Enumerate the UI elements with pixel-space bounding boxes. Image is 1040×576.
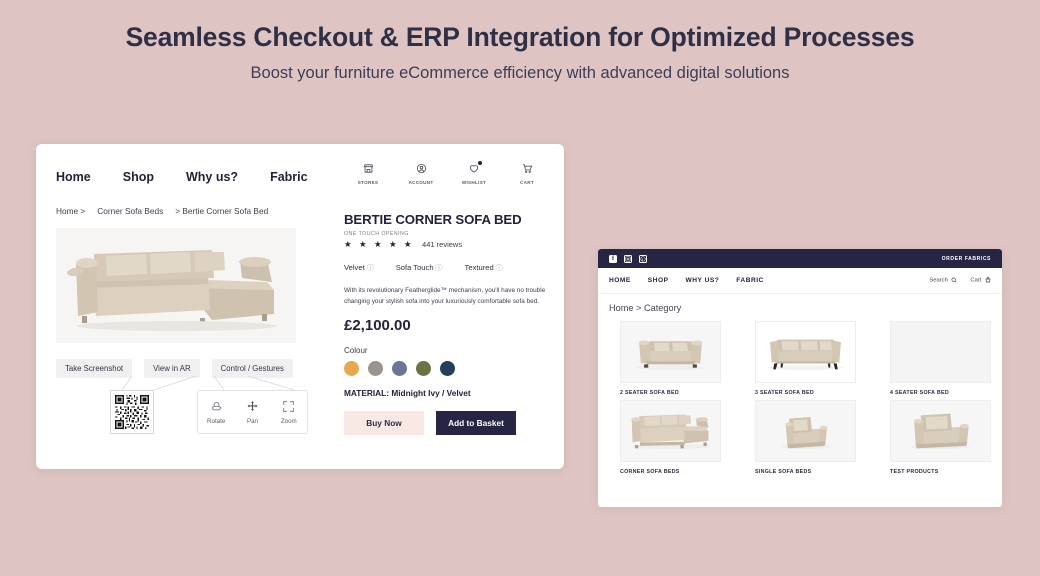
product-info-panel: BERTIE CORNER SOFA BED ONE TOUCH OPENING… xyxy=(344,212,549,435)
ar-qr-code[interactable] xyxy=(110,390,154,434)
three-seater-illustration xyxy=(756,322,855,382)
tag-sofa-touch[interactable]: Sofa Touchⓘ xyxy=(396,263,443,273)
tile-caption: 3 SEATER SOFA BED xyxy=(755,390,856,396)
product-subtitle: ONE TOUCH OPENING xyxy=(344,231,549,237)
gesture-rotate[interactable]: Rotate xyxy=(200,400,233,425)
tile-image xyxy=(890,400,991,462)
social-links: f xyxy=(609,255,647,263)
tile-caption: CORNER SOFA BEDS xyxy=(620,469,721,475)
category-breadcrumb: Home > Category xyxy=(598,294,1002,313)
pdp-main-nav: Home Shop Why us? Fabric xyxy=(56,170,308,184)
facebook-icon[interactable]: f xyxy=(609,255,617,263)
control-gestures-button[interactable]: Control / Gestures xyxy=(212,359,293,378)
zoom-icon xyxy=(272,400,305,416)
tile-corner-sofa-beds[interactable]: CORNER SOFA BEDS xyxy=(620,400,721,475)
pdp-nav-why-us[interactable]: Why us? xyxy=(186,170,238,184)
rotate-icon xyxy=(200,400,233,416)
product-description: With its revolutionary Featherglide™ mec… xyxy=(344,285,549,307)
cart-label: Cart xyxy=(970,278,981,284)
category-page-card: f ORDER FABRICS HOME SHOP WHY US? FABRIC xyxy=(598,249,1002,507)
armchair-illustration xyxy=(891,401,990,461)
account-label: ACCOUNT xyxy=(403,180,439,185)
material-label: MATERIAL: Midnight Ivy / Velvet xyxy=(344,388,549,398)
wishlist-button[interactable]: WISHLIST xyxy=(456,162,492,185)
wishlist-badge xyxy=(478,161,482,165)
product-hero-image[interactable] xyxy=(56,228,296,343)
tag-velvet-label: Velvet xyxy=(344,263,365,272)
pdp-utility-icons: STORES ACCOUNT WISHLIST xyxy=(350,162,545,185)
tile-image xyxy=(620,321,721,383)
buy-now-button[interactable]: Buy Now xyxy=(344,411,424,435)
tag-sofa-touch-label: Sofa Touch xyxy=(396,263,434,272)
corner-sofa-illustration xyxy=(62,232,292,340)
qr-code-icon xyxy=(114,394,150,430)
pdp-nav-fabric[interactable]: Fabric xyxy=(270,170,308,184)
account-icon xyxy=(403,162,439,177)
colour-swatch-group xyxy=(344,361,549,376)
page-headline: Seamless Checkout & ERP Integration for … xyxy=(0,22,1040,53)
order-fabrics-link[interactable]: ORDER FABRICS xyxy=(942,256,991,262)
info-icon[interactable]: ⓘ xyxy=(496,265,503,272)
cat-nav-why-us[interactable]: WHY US? xyxy=(685,277,719,284)
pan-icon xyxy=(236,400,269,416)
wishlist-icon xyxy=(456,162,492,177)
cat-nav-home[interactable]: HOME xyxy=(609,277,631,284)
swatch-amber[interactable] xyxy=(344,361,359,376)
cart-button[interactable]: Cart xyxy=(970,277,991,284)
product-attribute-tags: Velvetⓘ Sofa Touchⓘ Texturedⓘ xyxy=(344,263,549,273)
breadcrumb: Home > Corner Sofa Beds > Bertie Corner … xyxy=(56,206,268,216)
category-nav: HOME SHOP WHY US? FABRIC Search Cart xyxy=(598,268,1002,294)
colour-label: Colour xyxy=(344,346,549,355)
tile-2-seater-sofa-bed[interactable]: 2 SEATER SOFA BED xyxy=(620,321,721,396)
tag-velvet[interactable]: Velvetⓘ xyxy=(344,263,374,273)
cart-icon xyxy=(985,277,991,283)
stores-icon xyxy=(350,162,386,177)
cat-nav-fabric[interactable]: FABRIC xyxy=(736,277,764,284)
stores-button[interactable]: STORES xyxy=(350,162,386,185)
cart-icon xyxy=(509,162,545,177)
cta-row: Buy Now Add to Basket xyxy=(344,411,549,435)
search-button[interactable]: Search xyxy=(929,277,957,284)
tag-textured-label: Textured xyxy=(465,263,494,272)
tile-4-seater-sofa-bed[interactable]: 4 SEATER SOFA BED xyxy=(890,321,991,396)
take-screenshot-button[interactable]: Take Screenshot xyxy=(56,359,132,378)
instagram-icon[interactable] xyxy=(624,255,632,263)
loveseat-illustration xyxy=(621,322,720,382)
pdp-nav-shop[interactable]: Shop xyxy=(123,170,154,184)
corner-sofa-illustration xyxy=(621,401,720,461)
swatch-blue-grey[interactable] xyxy=(392,361,407,376)
tile-test-products[interactable]: TEST PRODUCTS xyxy=(890,400,991,475)
single-chair-illustration xyxy=(756,401,855,461)
product-price: £2,100.00 xyxy=(344,317,549,334)
page-subheadline: Boost your furniture eCommerce efficienc… xyxy=(0,64,1040,83)
cart-button[interactable]: CART xyxy=(509,162,545,185)
tile-caption: 4 SEATER SOFA BED xyxy=(890,390,991,396)
info-icon[interactable]: ⓘ xyxy=(436,265,443,272)
tile-image-empty xyxy=(890,321,991,383)
swatch-grey[interactable] xyxy=(368,361,383,376)
zoom-label: Zoom xyxy=(272,418,305,425)
tile-caption: 2 SEATER SOFA BED xyxy=(620,390,721,396)
product-title: BERTIE CORNER SOFA BED xyxy=(344,212,549,227)
star-rating-icon: ★ ★ ★ ★ ★ xyxy=(344,239,414,250)
view-in-ar-button[interactable]: View in AR xyxy=(144,359,200,378)
product-rating: ★ ★ ★ ★ ★ 441 reviews xyxy=(344,239,549,250)
page-root: Seamless Checkout & ERP Integration for … xyxy=(0,0,1040,576)
cat-nav-shop[interactable]: SHOP xyxy=(648,277,669,284)
tile-image xyxy=(755,400,856,462)
swatch-midnight-navy[interactable] xyxy=(440,361,455,376)
pdp-nav-home[interactable]: Home xyxy=(56,170,91,184)
category-topbar: f ORDER FABRICS xyxy=(598,249,1002,268)
ar-button-group: Take Screenshot View in AR Control / Ges… xyxy=(56,359,293,378)
add-to-basket-button[interactable]: Add to Basket xyxy=(436,411,516,435)
account-button[interactable]: ACCOUNT xyxy=(403,162,439,185)
tile-3-seater-sofa-bed[interactable]: 3 SEATER SOFA BED xyxy=(755,321,856,396)
tile-image xyxy=(620,400,721,462)
breadcrumb-item-home[interactable]: Home > xyxy=(56,206,85,216)
pinterest-icon[interactable] xyxy=(639,255,647,263)
breadcrumb-item-category[interactable]: Corner Sofa Beds xyxy=(97,206,163,216)
category-tile-grid: 2 SEATER SOFA BED xyxy=(598,313,1002,475)
search-icon xyxy=(951,277,957,283)
breadcrumb-item-product: > Bertie Corner Sofa Bed xyxy=(175,206,268,216)
rotate-label: Rotate xyxy=(200,418,233,425)
gesture-control-panel: Rotate Pan Zoom xyxy=(197,390,308,434)
pan-label: Pan xyxy=(236,418,269,425)
tag-textured[interactable]: Texturedⓘ xyxy=(465,263,503,273)
tile-caption: SINGLE SOFA BEDS xyxy=(755,469,856,475)
tile-single-sofa-beds[interactable]: SINGLE SOFA BEDS xyxy=(755,400,856,475)
tile-caption: TEST PRODUCTS xyxy=(890,469,991,475)
tile-image xyxy=(755,321,856,383)
search-label: Search xyxy=(929,278,947,284)
gesture-zoom[interactable]: Zoom xyxy=(272,400,305,425)
info-icon[interactable]: ⓘ xyxy=(367,265,374,272)
review-count[interactable]: 441 reviews xyxy=(422,240,462,249)
category-nav-actions: Search Cart xyxy=(929,277,991,284)
wishlist-label: WISHLIST xyxy=(456,180,492,185)
cart-label: CART xyxy=(509,180,545,185)
swatch-olive[interactable] xyxy=(416,361,431,376)
gesture-pan[interactable]: Pan xyxy=(236,400,269,425)
stores-label: STORES xyxy=(350,180,386,185)
